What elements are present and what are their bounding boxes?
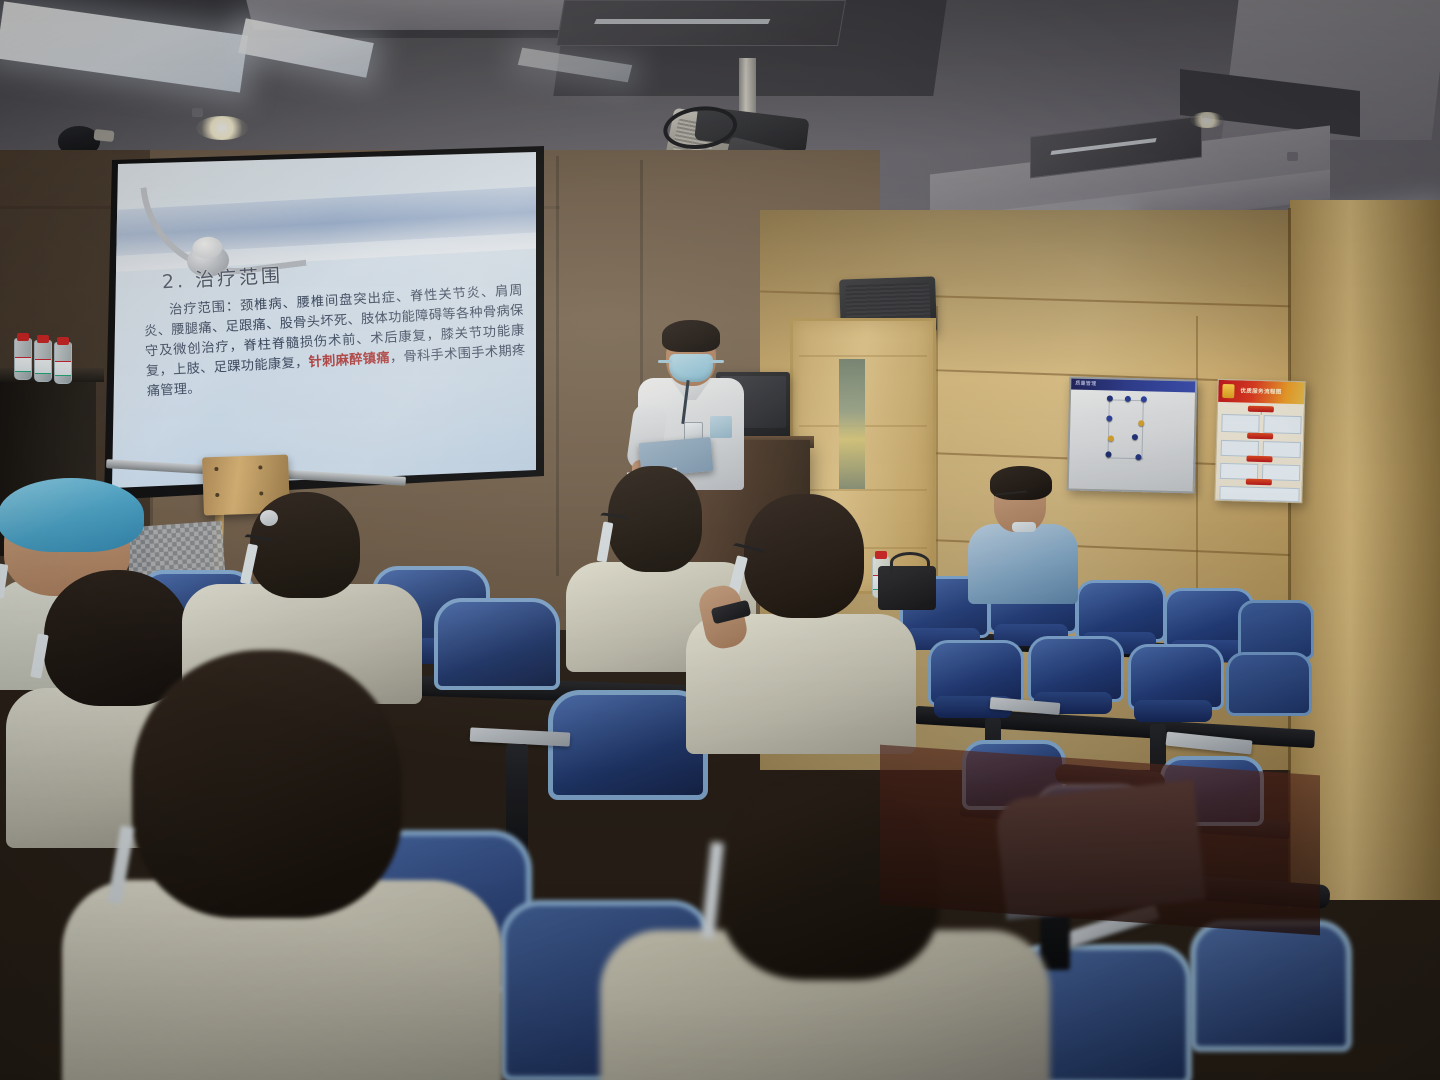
ceiling-spotlight xyxy=(1190,112,1224,128)
water-bottle[interactable] xyxy=(14,338,32,380)
whiteboard-magnet[interactable] xyxy=(1108,435,1114,441)
whiteboard-magnet[interactable] xyxy=(1132,434,1138,440)
poster-step-tag xyxy=(1246,479,1272,486)
door-panel-seam xyxy=(799,489,928,491)
door-panel-seam xyxy=(799,355,928,357)
auditorium-seat[interactable] xyxy=(1226,652,1306,732)
poster-box xyxy=(1219,486,1299,502)
surgical-mask-icon xyxy=(669,354,713,382)
poster-box xyxy=(1263,415,1301,434)
mask-strap xyxy=(658,360,672,363)
audience-member xyxy=(62,650,502,1080)
poster-emblem xyxy=(1222,384,1234,398)
air-conditioning-vent xyxy=(556,0,846,46)
poster-box xyxy=(1221,440,1259,457)
person-torso xyxy=(968,524,1078,604)
slide-body-highlight: 针刺麻醉镇痛 xyxy=(308,351,390,371)
door-vision-panel xyxy=(839,359,865,489)
poster-connector xyxy=(1261,412,1262,415)
bottle-label xyxy=(55,361,71,376)
audience-member xyxy=(968,466,1078,596)
wall-panel-seam xyxy=(936,306,938,606)
presenter-pocket xyxy=(710,416,732,438)
person-head xyxy=(132,650,402,918)
whiteboard-magnet[interactable] xyxy=(1138,420,1144,426)
slide-title: 2. 治疗范围 xyxy=(161,261,283,295)
whiteboard-magnet[interactable] xyxy=(1107,395,1113,401)
bottle-cap xyxy=(17,333,29,341)
workflow-poster: 优质服务流程图 xyxy=(1214,379,1305,503)
poster-box xyxy=(1220,463,1258,480)
camera-mount xyxy=(93,129,114,142)
mask-strap xyxy=(710,360,724,363)
projection-screen: 2. 治疗范围 治疗范围：颈椎病、腰椎间盘突出症、脊性关节炎、肩周炎、腰腿痛、足… xyxy=(112,152,536,488)
poster-step-tag xyxy=(1247,433,1273,440)
poster-title: 优质服务流程图 xyxy=(1240,386,1282,395)
presentation-slide: 2. 治疗范围 治疗范围：颈椎病、腰椎间盘突出症、脊性关节炎、肩周炎、腰腿痛、足… xyxy=(112,152,536,488)
audience-member xyxy=(686,494,916,724)
whiteboard-header: 质量管理 xyxy=(1071,379,1195,393)
lecture-hall-photo: 2. 治疗范围 治疗范围：颈椎病、腰椎间盘突出症、脊性关节炎、肩周炎、腰腿痛、足… xyxy=(0,0,1440,1080)
slide-body-text: 治疗范围：颈椎病、腰椎间盘突出症、脊性关节炎、肩周炎、腰腿痛、足跟痛、股骨头坏死… xyxy=(143,281,527,402)
person-collar xyxy=(1012,522,1036,532)
bottle-cap xyxy=(57,337,69,345)
whiteboard-line xyxy=(1141,400,1143,460)
ceiling-spotlight xyxy=(196,116,248,140)
downlight-housing xyxy=(1287,152,1298,161)
downlight-housing xyxy=(192,108,203,117)
floor xyxy=(880,745,1320,936)
surgical-cap-icon xyxy=(0,478,144,552)
whiteboard-header-label: 质量管理 xyxy=(1075,380,1096,388)
whiteboard-magnet[interactable] xyxy=(1106,415,1112,421)
water-bottle[interactable] xyxy=(54,342,72,384)
bottle-cap xyxy=(37,335,49,343)
bottle-label xyxy=(35,359,51,374)
poster-step-tag xyxy=(1246,456,1272,463)
presenter-hair xyxy=(662,320,720,352)
whiteboard: 质量管理 xyxy=(1067,376,1198,493)
poster-box xyxy=(1221,414,1259,433)
earpiece xyxy=(260,510,278,526)
wall-panel-seam xyxy=(1196,316,1198,616)
bottle-label xyxy=(15,357,31,372)
auditorium-seat[interactable] xyxy=(1128,644,1218,726)
whiteboard-magnet[interactable] xyxy=(1125,396,1131,402)
whiteboard-magnet[interactable] xyxy=(1141,396,1147,402)
auditorium-seat[interactable] xyxy=(1190,920,1340,1060)
water-bottle[interactable] xyxy=(34,340,52,382)
wall-panel-seam xyxy=(556,156,559,576)
